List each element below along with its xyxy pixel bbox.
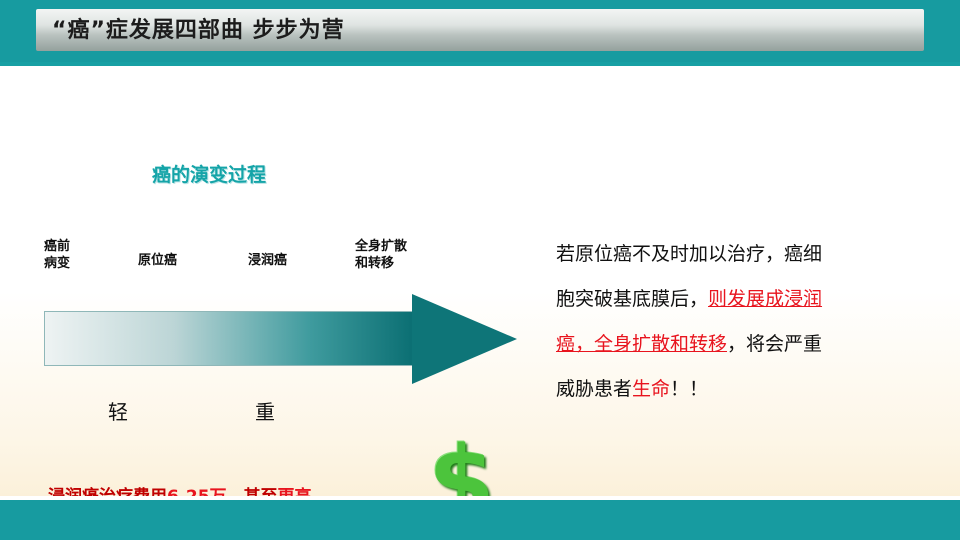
progression-arrow (44, 294, 514, 384)
severity-label-heavy: 重 (255, 396, 275, 425)
paragraph-line-4-emphasis: 生命 (632, 378, 670, 400)
paragraph-line-2-emphasis: 则发展成浸润 (708, 288, 822, 310)
page-title: “癌”症发展四部曲 步步为营 (52, 14, 912, 48)
paragraph-line-3: ，将会严重 (727, 333, 822, 355)
stage-label-carcinoma-in-situ: 原位癌 (138, 252, 177, 269)
paragraph-line-1: 若原位癌不及时加以治疗，癌细 (556, 243, 822, 265)
paragraph-line-2: 胞突破基底膜后， (556, 288, 708, 310)
arrow-head-icon (412, 294, 517, 384)
bottom-color-band (0, 500, 960, 540)
severity-label-light: 轻 (108, 396, 128, 425)
explanation-paragraph: 若原位癌不及时加以治疗，癌细 胞突破基底膜后，则发展成浸润 癌，全身扩散和转移，… (556, 232, 934, 412)
section-subtitle: 癌的演变过程 (152, 160, 266, 187)
paragraph-line-4-tail: ！！ (670, 378, 708, 400)
slide-body: 癌的演变过程 癌前 病变 原位癌 浸润癌 全身扩散 和转移 轻 重 浸润癌治疗费… (0, 66, 960, 500)
paragraph-line-3-emphasis: 癌，全身扩散和转移 (556, 333, 727, 355)
stage-label-precancer: 癌前 病变 (44, 238, 70, 272)
arrow-shaft (44, 311, 414, 366)
slide-canvas: “癌”症发展四部曲 步步为营 癌的演变过程 癌前 病变 原位癌 浸润癌 全身扩散… (0, 0, 960, 540)
paragraph-line-4: 威胁患者 (556, 378, 632, 400)
stage-label-invasive-carcinoma: 浸润癌 (248, 252, 287, 269)
stage-label-metastasis: 全身扩散 和转移 (355, 238, 407, 272)
